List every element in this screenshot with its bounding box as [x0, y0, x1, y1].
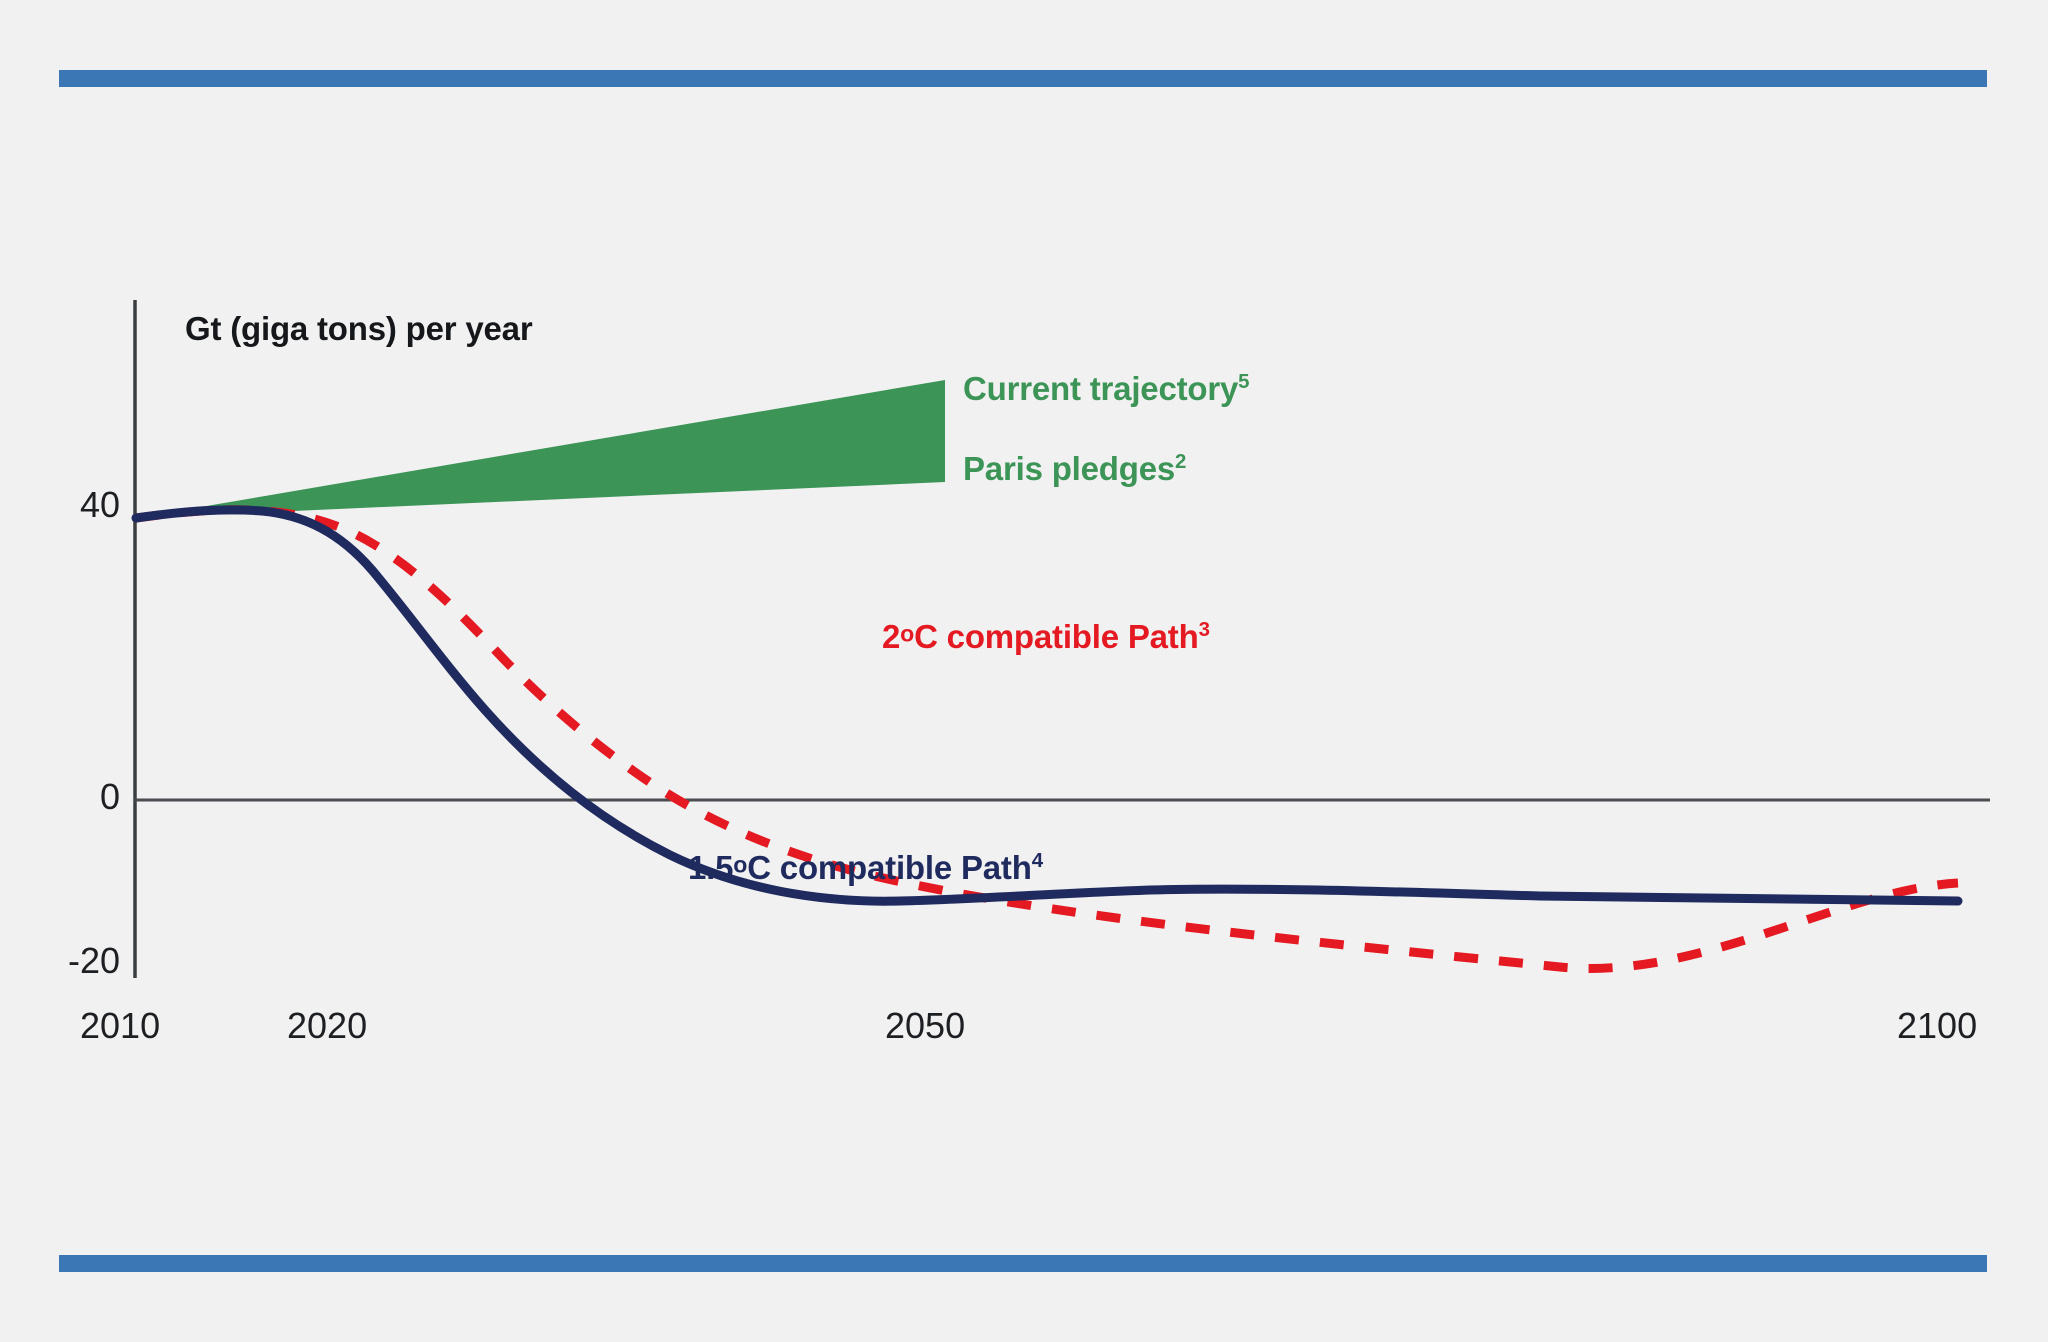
x-tick-2010: 2010 — [80, 1005, 160, 1047]
series-label-one-point-five-c-note: 4 — [1032, 849, 1043, 872]
series-label-current-trajectory-text: Current trajectory — [963, 370, 1238, 407]
y-tick-minus-20: -20 — [0, 940, 120, 982]
series-label-paris-pledges-text: Paris pledges — [963, 450, 1175, 487]
series-label-current-trajectory-note: 5 — [1238, 370, 1249, 393]
y-tick-40: 40 — [0, 484, 120, 526]
degree-symbol-icon: o — [733, 852, 747, 878]
chart-plot-area — [0, 0, 2048, 1342]
series-label-one-point-five-c-path: 1.5oC compatible Path4 — [688, 849, 1043, 887]
series-label-paris-pledges: Paris pledges2 — [963, 450, 1186, 488]
series-label-two-c-path: 2oC compatible Path3 — [882, 618, 1210, 656]
series-label-one-point-five-c-text: C compatible Path — [747, 849, 1031, 886]
x-tick-2020: 2020 — [287, 1005, 367, 1047]
series-label-current-trajectory: Current trajectory5 — [963, 370, 1249, 408]
series-label-two-c-note: 3 — [1199, 618, 1210, 641]
series-label-one-point-five-c-prefix: 1.5 — [688, 849, 733, 886]
series-label-paris-pledges-note: 2 — [1175, 450, 1186, 473]
degree-symbol-icon: o — [900, 621, 914, 647]
y-tick-0: 0 — [0, 776, 120, 818]
series-label-two-c-text: C compatible Path — [914, 618, 1198, 655]
x-tick-2050: 2050 — [885, 1005, 965, 1047]
series-label-two-c-prefix: 2 — [882, 618, 900, 655]
green-wedge-current-trajectory-paris-pledges — [136, 380, 945, 518]
y-axis-title: Gt (giga tons) per year — [185, 310, 532, 348]
x-tick-2100: 2100 — [1897, 1005, 1977, 1047]
emissions-pathways-chart: Gt (giga tons) per year 40 0 -20 2010 20… — [0, 0, 2048, 1342]
